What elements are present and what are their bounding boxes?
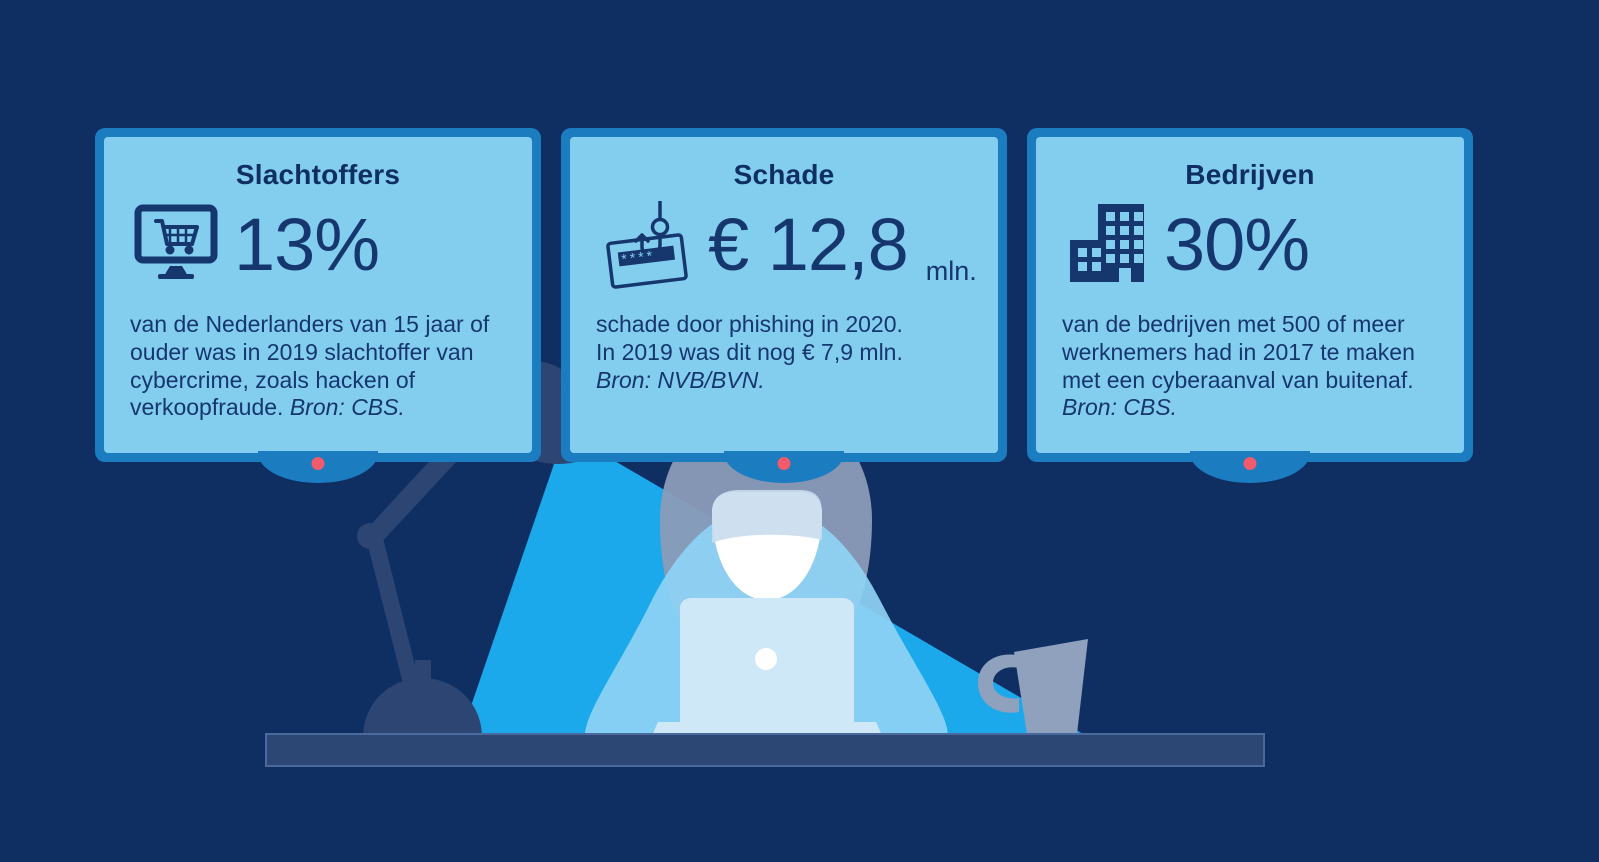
power-led-icon [312, 457, 325, 470]
source-label: Bron: CBS. [290, 394, 405, 420]
monitor-shopping-cart-icon [134, 204, 218, 287]
card-body: schade door phishing in 2020. In 2019 wa… [596, 311, 972, 394]
card-screen: Bedrijven [1036, 137, 1464, 453]
card-bedrijven[interactable]: Bedrijven [1027, 128, 1473, 462]
laptop-logo [755, 648, 777, 670]
phishing-hook-password-card-icon: **** [600, 197, 692, 294]
stat-value: € 12,8 [708, 208, 908, 282]
body-line: cybercrime, zoals hacken of [130, 367, 506, 395]
infographic-canvas: Slachtoffers 13% [0, 0, 1599, 862]
card-slachtoffers[interactable]: Slachtoffers 13% [95, 128, 541, 462]
card-schade[interactable]: Schade **** [561, 128, 1007, 462]
card-title: Bedrijven [1062, 159, 1438, 191]
stat-row: 30% [1062, 197, 1438, 293]
stat-row: 13% [130, 197, 506, 293]
source-label: Bron: CBS. [1062, 394, 1438, 422]
card-screen: Schade **** [570, 137, 998, 453]
body-line: In 2019 was dit nog € 7,9 mln. [596, 339, 972, 367]
body-line: schade door phishing in 2020. [596, 311, 972, 339]
office-building-icon [1066, 200, 1148, 291]
source-label: Bron: NVB/BVN. [596, 367, 972, 395]
body-line: werknemers had in 2017 te maken [1062, 339, 1438, 367]
body-line: met een cyberaanval van buitenaf. [1062, 367, 1438, 395]
body-line-with-source: verkoopfraude. Bron: CBS. [130, 394, 506, 422]
card-title: Slachtoffers [130, 159, 506, 191]
stat-value: 13% [234, 208, 379, 282]
power-led-icon [1244, 457, 1257, 470]
stat-row: **** € 12,8 mln. [596, 197, 972, 293]
card-title: Schade [596, 159, 972, 191]
stat-value: 30% [1164, 208, 1309, 282]
card-body: van de Nederlanders van 15 jaar of ouder… [130, 311, 506, 422]
mug-body [1014, 639, 1088, 734]
desk-surface [266, 734, 1264, 766]
card-screen: Slachtoffers 13% [104, 137, 532, 453]
card-body: van de bedrijven met 500 of meer werknem… [1062, 311, 1438, 422]
body-line: van de bedrijven met 500 of meer [1062, 311, 1438, 339]
power-led-icon [778, 457, 791, 470]
stat-suffix: mln. [926, 256, 977, 293]
body-line-text: verkoopfraude. [130, 394, 283, 420]
svg-text:****: **** [621, 247, 656, 267]
body-line: van de Nederlanders van 15 jaar of [130, 311, 506, 339]
body-line: ouder was in 2019 slachtoffer van [130, 339, 506, 367]
